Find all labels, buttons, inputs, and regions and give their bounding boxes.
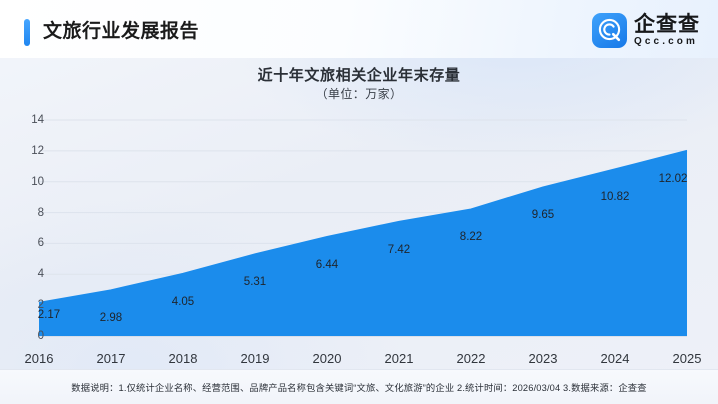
data-label: 6.44 (316, 259, 338, 271)
data-label: 8.22 (460, 231, 482, 243)
footer-note-bar: 数据说明：1.仅统计企业名称、经营范围、品牌产品名称包含关键词“文旅、文化旅游”… (0, 369, 718, 404)
data-label: 10.82 (601, 191, 630, 203)
footer-note: 数据说明：1.仅统计企业名称、经营范围、品牌产品名称包含关键词“文旅、文化旅游”… (71, 380, 646, 394)
data-point-labels: 2.172.984.055.316.447.428.229.6510.8212.… (0, 0, 718, 404)
data-label: 2.98 (100, 312, 122, 324)
data-label: 5.31 (244, 276, 266, 288)
data-label: 7.42 (388, 244, 410, 256)
data-label: 2.17 (38, 309, 60, 321)
report-page: 文旅行业发展报告 企查查 Qcc.com 近十年文旅相关企业年末存量 （单位：万… (0, 0, 718, 404)
data-label: 12.02 (659, 173, 688, 185)
data-label: 4.05 (172, 296, 194, 308)
data-label: 9.65 (532, 209, 554, 221)
